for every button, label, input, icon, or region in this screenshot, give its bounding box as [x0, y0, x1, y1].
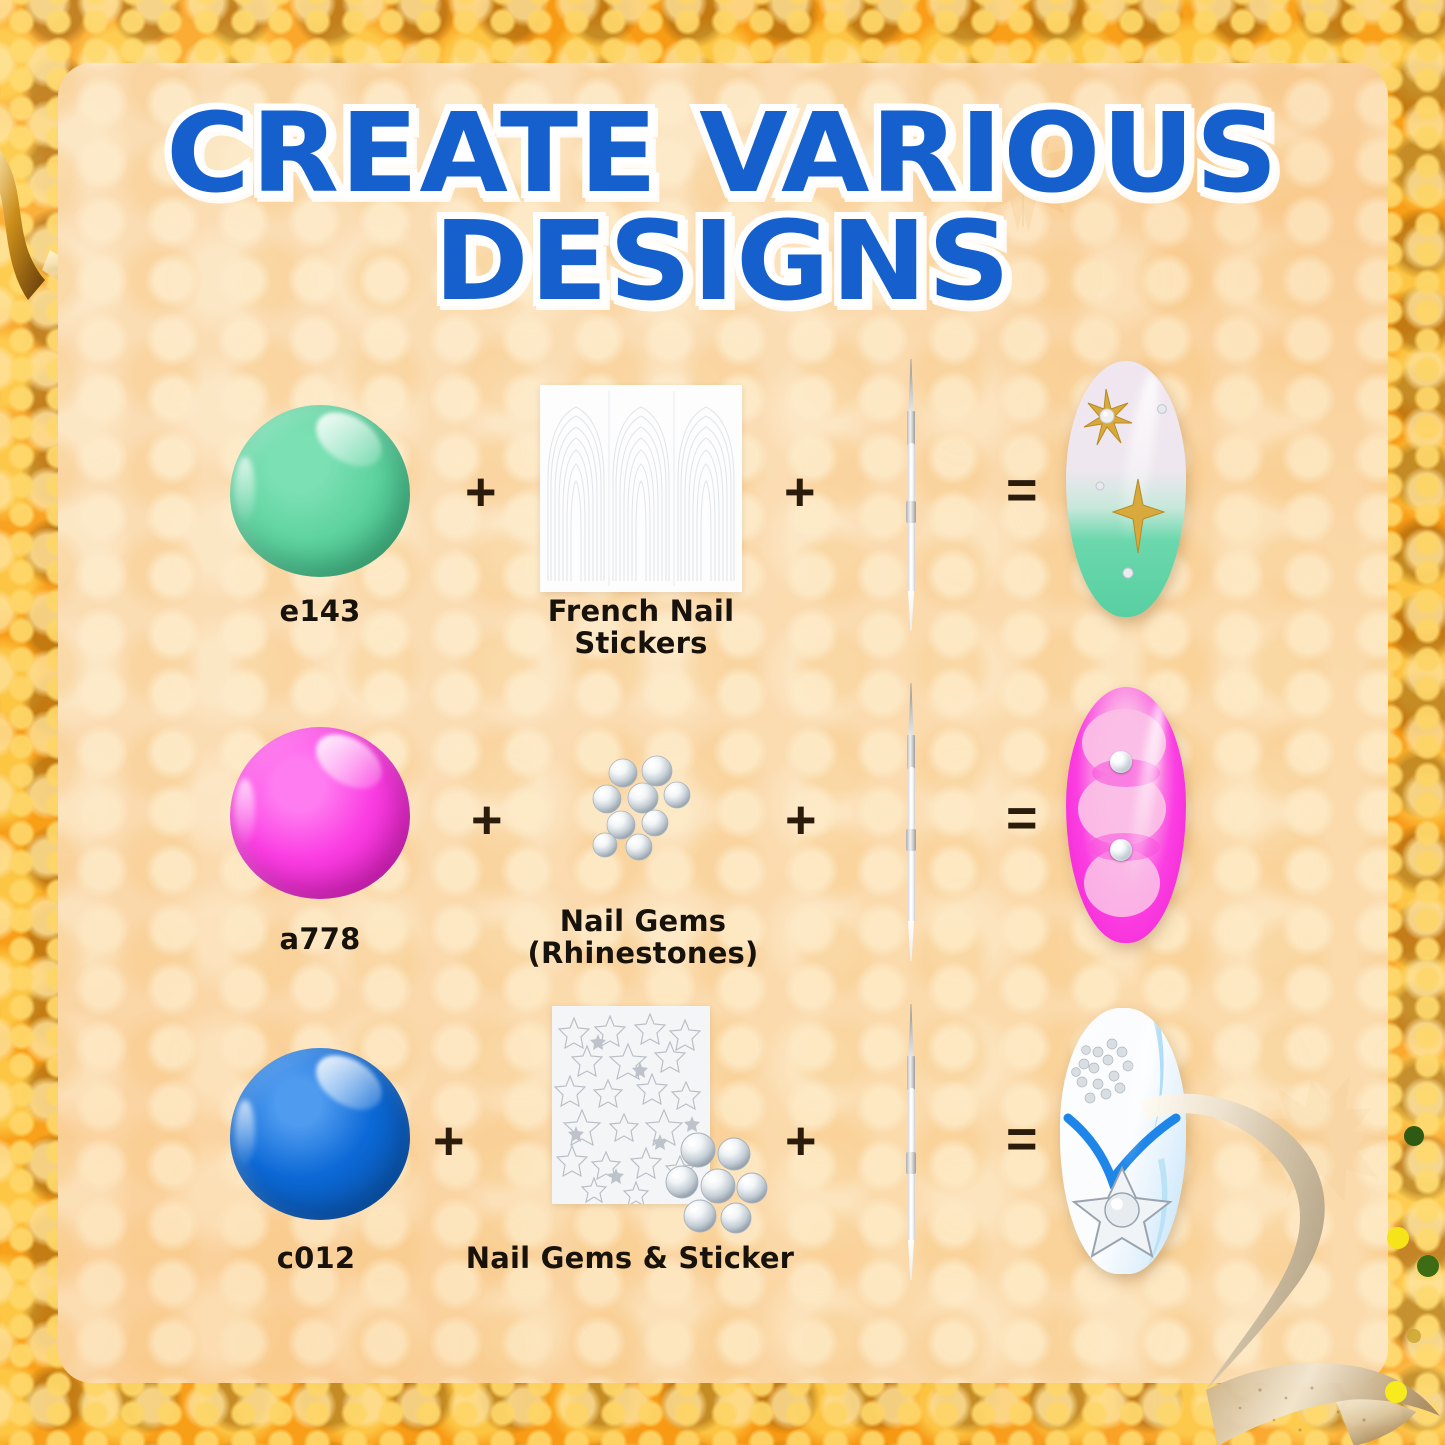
brush-ferrule	[907, 735, 915, 769]
polish-code-label-1: e143	[230, 595, 410, 627]
nail-art-liner-brush-3[interactable]	[903, 1004, 919, 1296]
page-title: CREATE VARIOUS DESIGNS	[0, 100, 1445, 316]
nail-2-decor	[1066, 687, 1186, 943]
result-nail-1[interactable]	[1066, 361, 1186, 617]
polish-drop-c012[interactable]	[230, 1048, 410, 1220]
accessory-label-3: Nail Gems & Sticker	[430, 1242, 830, 1274]
brush-tip	[908, 683, 914, 741]
rhinestone-cluster[interactable]	[577, 751, 707, 869]
equals-symbol-1: =	[1006, 463, 1038, 517]
plus-symbol-2b: +	[785, 793, 817, 847]
brush-tail	[908, 1240, 914, 1280]
equals-symbol-2: =	[1006, 791, 1038, 845]
brush-band	[906, 1152, 916, 1174]
nail-1-decor	[1066, 361, 1186, 617]
accessory-label-2-line2: (Rhinestones)	[470, 937, 816, 969]
french-nail-sticker-sheet[interactable]	[540, 385, 742, 592]
rhinestone-spill[interactable]	[658, 1128, 776, 1238]
brush-ferrule	[907, 1056, 915, 1090]
gold-confetti-right	[1380, 1100, 1445, 1430]
design-row-1: e143 +	[58, 345, 1388, 645]
plus-symbol-1a: +	[465, 465, 497, 519]
result-nail-2[interactable]	[1066, 687, 1186, 943]
polish-drop-a778[interactable]	[230, 727, 410, 899]
plus-symbol-3b: +	[785, 1114, 817, 1168]
nail-art-liner-brush-2[interactable]	[903, 683, 919, 979]
equals-symbol-3: =	[1006, 1112, 1038, 1166]
brush-tail	[908, 591, 914, 631]
drop-highlight-left	[235, 1100, 255, 1165]
polish-code-label-3: c012	[226, 1242, 406, 1274]
plus-symbol-3a: +	[433, 1114, 465, 1168]
poster-canvas: CREATE VARIOUS DESIGNS e143 +	[0, 0, 1445, 1445]
accessory-label-1: French Nail Stickers	[480, 595, 802, 660]
drop-highlight-left	[235, 457, 255, 522]
brush-tip	[908, 1004, 914, 1062]
drop-highlight-left	[235, 779, 255, 844]
brush-band	[906, 501, 916, 523]
silver-gem-lower	[1110, 839, 1132, 861]
polish-drop-e143[interactable]	[230, 405, 410, 577]
brush-tail	[908, 921, 914, 961]
french-tip-guides	[540, 385, 742, 592]
accessory-label-2: Nail Gems (Rhinestones)	[470, 905, 816, 970]
plus-symbol-1b: +	[784, 465, 816, 519]
plus-symbol-2a: +	[471, 793, 503, 847]
brush-tip	[908, 359, 914, 417]
nail-art-liner-brush-1[interactable]	[903, 359, 919, 649]
design-row-2: a778 +	[58, 675, 1388, 975]
brush-ferrule	[907, 411, 915, 445]
silver-gem-upper	[1110, 751, 1132, 773]
title-line-2: DESIGNS	[0, 208, 1445, 316]
brush-band	[906, 829, 916, 851]
polish-code-label-2: a778	[230, 923, 410, 955]
accessory-label-2-line1: Nail Gems	[470, 905, 816, 937]
